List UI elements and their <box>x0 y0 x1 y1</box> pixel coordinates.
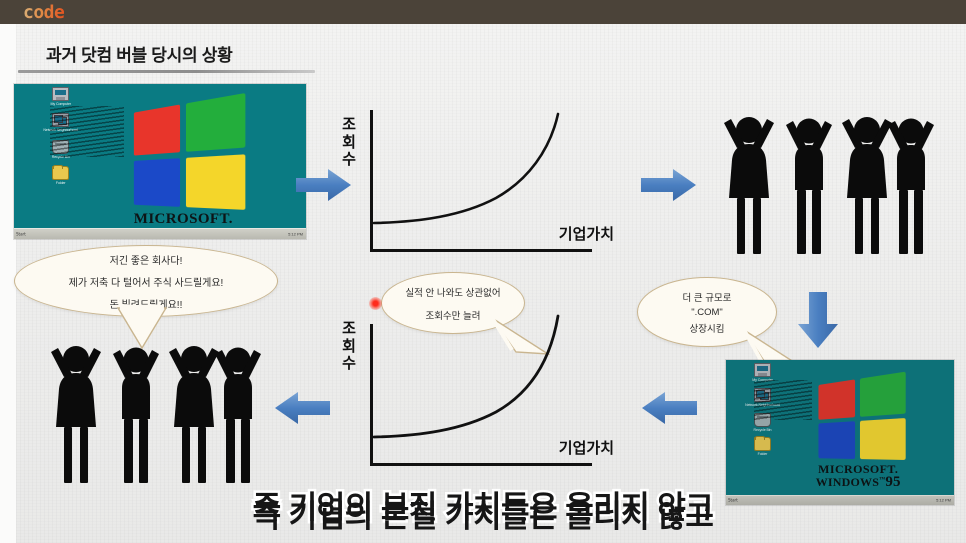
windows95-splash-bottom: MICROSOFT. WINDOWS™95 <box>790 379 927 491</box>
slide-caption: 즉 기업의 본질 가치들은 올리지 않고 <box>0 491 966 536</box>
arrow-left-icon <box>641 390 697 426</box>
title-underline <box>18 70 315 73</box>
arrow-right-icon <box>641 167 697 203</box>
cheering-people-icon <box>40 339 270 491</box>
desktop-icon-my-computer[interactable]: My Computer <box>23 87 99 106</box>
windows-flag-icon <box>134 93 246 203</box>
slide-canvas: 과거 닷컴 버블 당시의 상황 My Computer Network Neig… <box>0 24 966 543</box>
cheering-people-icon <box>713 112 943 260</box>
folder-icon <box>52 166 69 180</box>
ylabel-char: 회 <box>340 134 358 152</box>
start-button[interactable]: Start <box>16 232 26 237</box>
chart-top-ylabel: 조회수 <box>340 116 358 169</box>
arrow-left-icon <box>274 390 330 426</box>
arrow-right-icon <box>296 167 352 203</box>
my-computer-icon <box>52 87 69 101</box>
ylabel-char: 수 <box>340 355 358 373</box>
taskbar-clock: 5:12 PM <box>288 232 303 237</box>
bubble-ipo-line-1: 더 큰 규모로 <box>683 290 732 304</box>
bubble-strategy-line-2: 조회수만 늘려 <box>425 308 480 322</box>
microsoft-wordmark: MICROSOFT. <box>790 463 927 476</box>
ylabel-char: 조 <box>340 320 358 338</box>
slide-viewer: code 과거 닷컴 버블 당시의 상황 My Computer Network… <box>0 0 966 543</box>
desktop-icon-label: Recycle Bin <box>733 428 792 432</box>
desktop-icon-folder[interactable]: Folder <box>733 437 792 456</box>
desktop-icon-label: Folder <box>23 181 99 185</box>
app-topbar: code <box>0 0 966 24</box>
chart-top-xlabel: 기업가치 <box>559 223 614 244</box>
people-group-bottom-left <box>40 339 270 491</box>
bubble-ipo-line-2: ".COM" <box>691 307 723 318</box>
bubble-ipo-line-3: 상장시킴 <box>690 321 725 335</box>
ylabel-char: 조 <box>340 116 358 134</box>
windows-flag-streak-icon <box>50 106 124 156</box>
bubble-investors-line-1: 저긴 좋은 회사다! <box>110 252 183 267</box>
my-computer-icon <box>754 363 771 377</box>
windows95-desktop-top: My Computer Network Neighborhood Recycle… <box>14 84 306 239</box>
caption-container: 즉 기업의 본질 가치들은 올리지 않고 즉 기업의 본질 가치들은 올리지 않… <box>0 491 966 535</box>
arrow-left-2 <box>274 390 330 431</box>
chart-bottom-ylabel: 조회수 <box>340 320 358 373</box>
bubble-investors-line-2: 제가 저축 다 털어서 주식 사드릴게요! <box>69 274 224 289</box>
ylabel-char: 회 <box>340 338 358 356</box>
windows95-taskbar-top[interactable]: Start 5:12 PM <box>14 228 306 239</box>
microsoft-wordmark: MICROSOFT. <box>96 212 271 228</box>
arrow-down-1 <box>795 292 841 355</box>
page-title: 과거 닷컴 버블 당시의 상황 <box>46 41 232 66</box>
arrow-right-2 <box>641 167 697 208</box>
windows-flag-icon <box>819 372 906 455</box>
code-logo[interactable]: code <box>23 2 64 23</box>
arrow-down-icon <box>795 292 841 350</box>
bubble-strategy-line-1: 실적 안 나와도 상관없어 <box>405 285 500 299</box>
arrow-left-1 <box>641 390 697 431</box>
windows95-splash-top: MICROSOFT. WINDOWS™95 <box>96 104 271 239</box>
chart-bottom: 조회수 기업가치 <box>370 324 592 466</box>
ylabel-char: 수 <box>340 151 358 169</box>
chart-bottom-xlabel: 기업가치 <box>559 437 614 458</box>
arrow-right-1 <box>296 167 352 208</box>
desktop-icon-label: Folder <box>733 452 792 456</box>
chart-top: 조회수 기업가치 <box>370 110 592 252</box>
people-group-top-right <box>713 112 943 260</box>
laser-pointer-cursor <box>369 297 382 310</box>
windows-flag-streak-icon <box>754 380 811 419</box>
folder-icon <box>754 437 771 451</box>
desktop-icon-folder[interactable]: Folder <box>23 166 99 185</box>
